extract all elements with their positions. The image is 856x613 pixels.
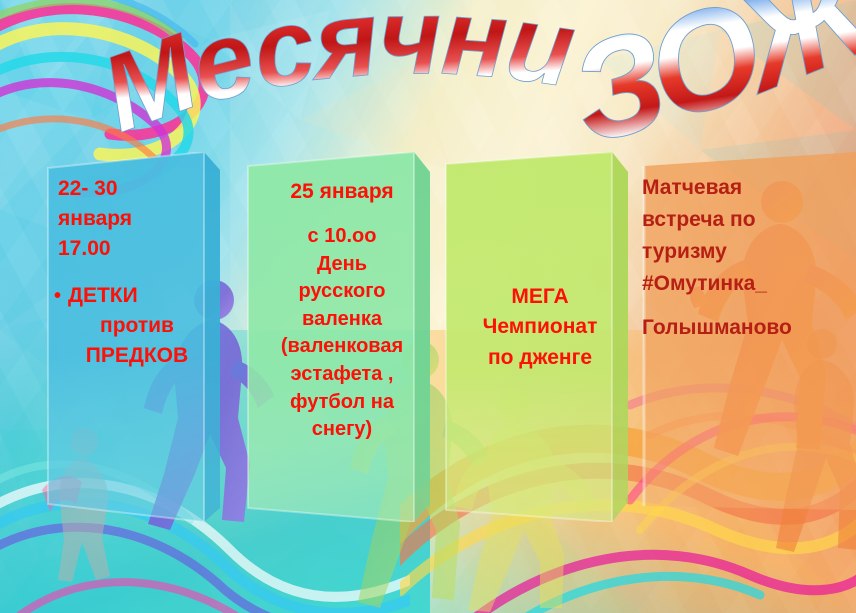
panel-1-bullet-block: • ДЕТКИ против ПРЕДКОВ xyxy=(44,281,230,370)
panel-den-russkogo-valenka: 25 января с 10.оо День русского валенка … xyxy=(244,152,440,522)
bullet-dot-icon: • xyxy=(54,286,61,306)
panel-4-text: Матчевая встреча по туризму #Омутинка_ Г… xyxy=(630,150,856,344)
panel-2-line-8: снегу) xyxy=(244,416,440,444)
panel-1-bullet-text-2: против xyxy=(44,311,230,341)
panel-3-line-3: по дженге xyxy=(442,343,638,373)
panel-1-line-1: 22- 30 xyxy=(44,174,230,204)
panel-4-tail: Голышманово xyxy=(642,312,856,344)
panel-1-bullet-text-1: ДЕТКИ xyxy=(68,281,138,311)
panel-1-bullet-text-3: ПРЕДКОВ xyxy=(44,341,230,371)
panel-mega-chempionat-po-dzhenge: МЕГА Чемпионат по дженге xyxy=(442,152,638,522)
panel-3-text: МЕГА Чемпионат по дженге xyxy=(434,152,646,373)
poster-canvas: 22- 30 января 17.00 • ДЕТКИ против ПРЕДК… xyxy=(0,0,856,613)
panel-2-line-3: русского xyxy=(244,278,440,306)
panel-4-line-3: туризму xyxy=(642,236,856,268)
panel-detki-protiv-predkov: 22- 30 января 17.00 • ДЕТКИ против ПРЕДК… xyxy=(44,152,230,522)
panel-1-text: 22- 30 января 17.00 • ДЕТКИ против ПРЕДК… xyxy=(36,152,238,371)
panel-2-line-4: валенка xyxy=(244,306,440,334)
panel-1-line-3: 17.00 xyxy=(44,234,230,264)
panel-2-text: 25 января с 10.оо День русского валенка … xyxy=(238,152,446,444)
panel-4-line-2: встреча по xyxy=(642,204,856,236)
panel-3-line-1: МЕГА xyxy=(442,282,638,312)
panel-4-line-4: #Омутинка_ xyxy=(642,268,856,300)
panel-4-line-1: Матчевая xyxy=(642,172,856,204)
panel-1-line-2: января xyxy=(44,204,230,234)
panel-2-line-6: эстафета , xyxy=(244,361,440,389)
panel-matchevaya-vstrecha-po-turizmu: Матчевая встреча по туризму #Омутинка_ Г… xyxy=(640,150,856,522)
panel-2-line-7: футбол на xyxy=(244,389,440,417)
panel-2-line-2: День xyxy=(244,251,440,279)
panel-3-line-2: Чемпионат xyxy=(442,312,638,342)
panel-2-line-1: с 10.оо xyxy=(244,223,440,251)
panel-2-heading: 25 января xyxy=(244,178,440,207)
panel-1-bullet-line-1: • ДЕТКИ xyxy=(44,281,230,311)
panel-2-line-5: (валенковая xyxy=(244,333,440,361)
